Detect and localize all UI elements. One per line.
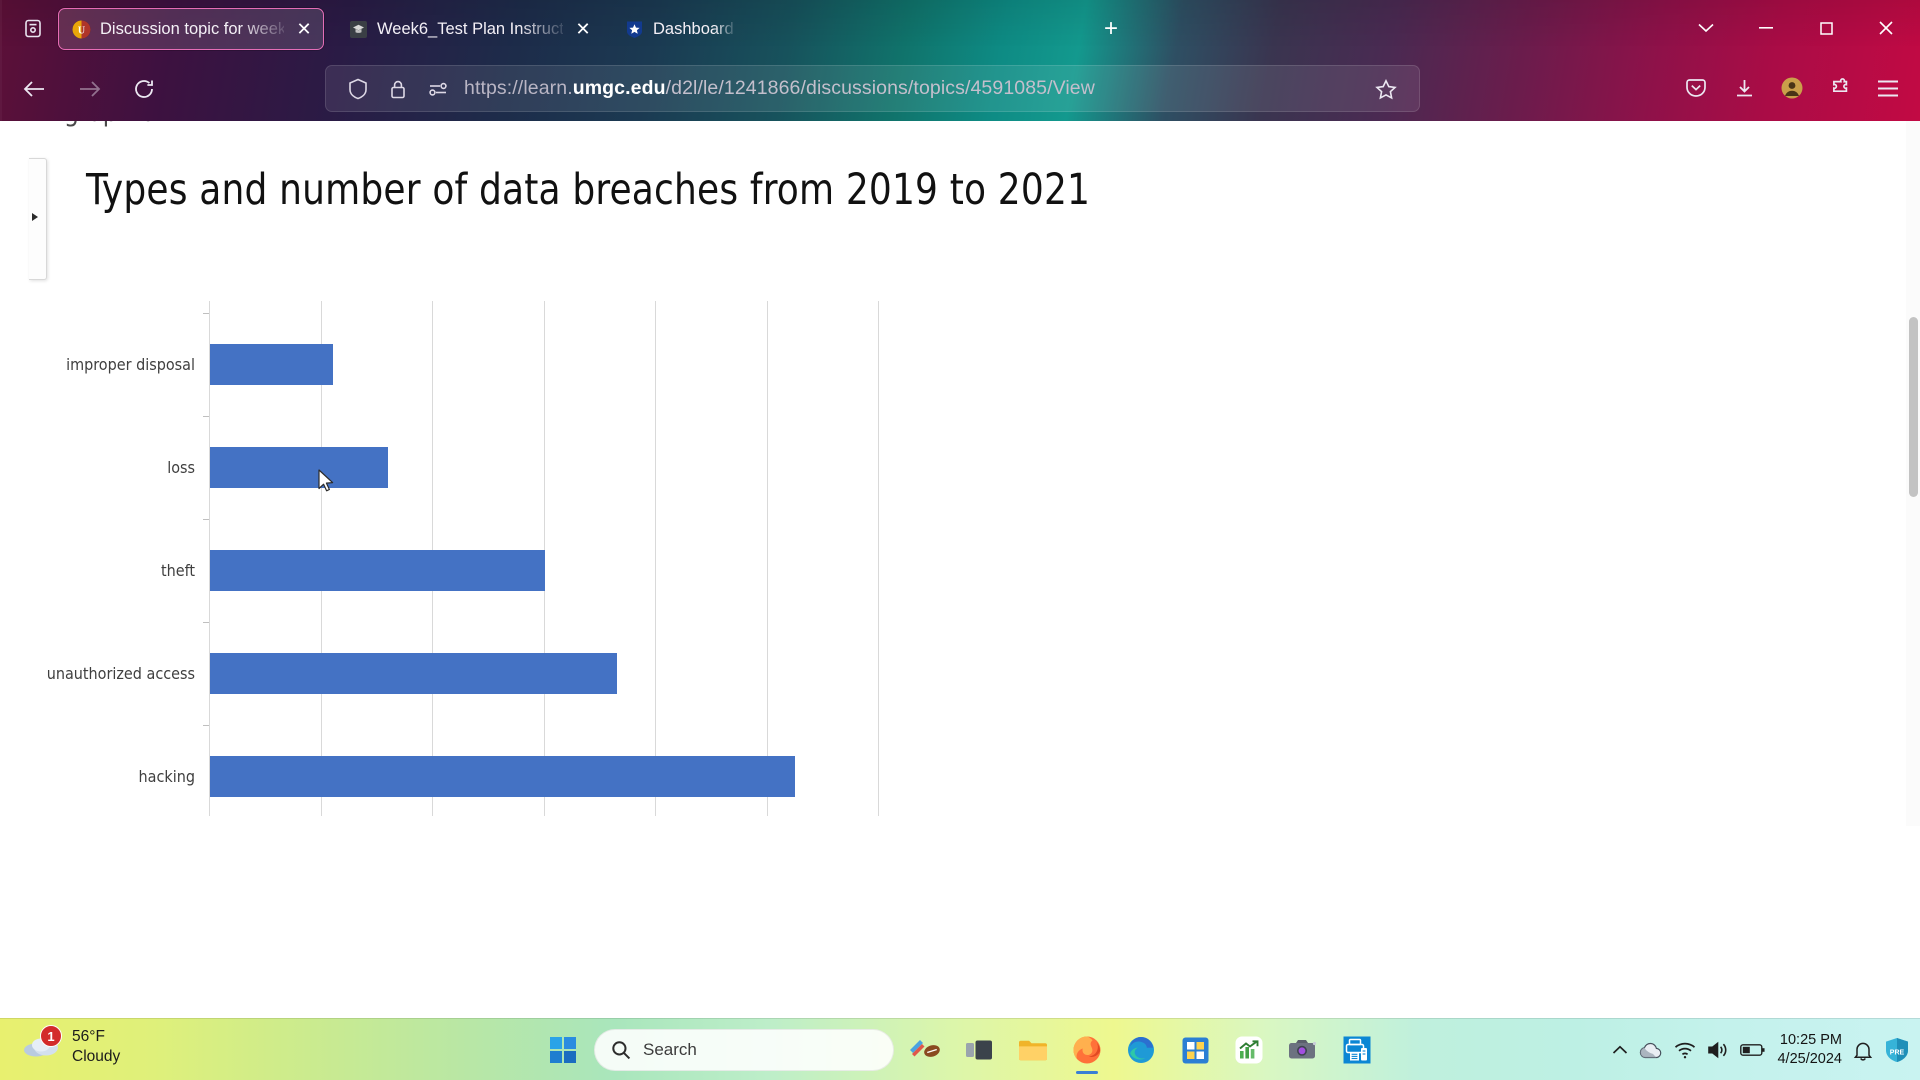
chart-xtick-label: 400 bbox=[641, 825, 668, 826]
page-scrollbar-track[interactable] bbox=[1906, 121, 1920, 826]
chevron-down-icon[interactable] bbox=[1676, 8, 1736, 48]
tab-1[interactable]: Week6_Test Plan Instructions: Th ✕ bbox=[336, 8, 602, 50]
chart-category-label: theft bbox=[161, 561, 195, 580]
taskbar-search-placeholder: Search bbox=[643, 1040, 697, 1060]
svg-text:PRE: PRE bbox=[1890, 1050, 1905, 1057]
padlock-icon[interactable] bbox=[378, 69, 418, 109]
weather-condition: Cloudy bbox=[72, 1047, 120, 1067]
taskbar-center-group: Search bbox=[540, 1025, 1380, 1075]
camera-icon bbox=[1288, 1038, 1318, 1062]
chart-category-label: loss bbox=[167, 458, 195, 477]
taskbar-item-file-explorer[interactable] bbox=[1010, 1025, 1056, 1075]
forward-arrow-icon[interactable] bbox=[70, 69, 110, 109]
bell-icon[interactable] bbox=[1853, 1040, 1873, 1061]
back-arrow-icon[interactable] bbox=[14, 69, 54, 109]
reload-icon[interactable] bbox=[124, 69, 164, 109]
chart-gridline bbox=[767, 301, 768, 816]
taskbar-item-firefox[interactable] bbox=[1064, 1025, 1110, 1075]
chart-plot-area: 0100200300400500600improper disposalloss… bbox=[209, 301, 878, 816]
pocket-icon[interactable] bbox=[1674, 67, 1718, 109]
chart-bar bbox=[210, 447, 388, 488]
umgc-favicon: U bbox=[71, 19, 91, 39]
taskbar-item-edge[interactable] bbox=[1118, 1025, 1164, 1075]
clock-date: 4/25/2024 bbox=[1777, 1050, 1842, 1069]
taskbar: 1 56°F Cloudy Search bbox=[0, 1018, 1920, 1080]
task-view-icon bbox=[965, 1038, 993, 1062]
taskbar-item-task-view[interactable] bbox=[956, 1025, 1002, 1075]
battery-icon[interactable] bbox=[1740, 1043, 1766, 1057]
tab-close-1[interactable]: ✕ bbox=[572, 18, 594, 40]
tab-title-2: Dashboard bbox=[653, 20, 734, 39]
taskbar-clock[interactable]: 10:25 PM 4/25/2024 bbox=[1777, 1031, 1842, 1069]
tab-strip: U Discussion topic for week 7: Dat ✕ Wee… bbox=[0, 0, 1920, 55]
microsoft-store-icon bbox=[1182, 1037, 1209, 1064]
toolbar-icons bbox=[1674, 67, 1910, 109]
star-outline-icon[interactable] bbox=[1367, 70, 1405, 108]
browser-chrome: U Discussion topic for week 7: Dat ✕ Wee… bbox=[0, 0, 1920, 121]
chart-y-tick bbox=[203, 519, 209, 520]
taskbar-search-box[interactable]: Search bbox=[594, 1029, 894, 1071]
chart-xtick-label: 500 bbox=[753, 825, 780, 826]
tray-overflow-chevron-icon[interactable] bbox=[1612, 1045, 1628, 1055]
chart-gridline bbox=[655, 301, 656, 816]
taskbar-item-widgets[interactable] bbox=[902, 1025, 948, 1075]
chart-xtick-label: 100 bbox=[307, 825, 334, 826]
chart-gridline bbox=[878, 301, 879, 816]
downloads-icon[interactable] bbox=[1722, 67, 1766, 109]
new-tab-button[interactable]: + bbox=[1095, 14, 1127, 44]
tab-close-0[interactable]: ✕ bbox=[293, 18, 315, 40]
chart-category-label: unauthorized access bbox=[47, 664, 195, 683]
chart-xtick-label: 600 bbox=[864, 825, 891, 826]
mouse-cursor bbox=[318, 469, 335, 493]
graduate-favicon bbox=[348, 19, 368, 39]
extensions-icon[interactable] bbox=[1818, 67, 1862, 109]
close-window-button[interactable] bbox=[1856, 8, 1916, 48]
bar-chart: 0100200300400500600improper disposalloss… bbox=[0, 121, 1000, 826]
firefox-icon bbox=[1072, 1035, 1102, 1065]
search-icon bbox=[611, 1040, 631, 1060]
taskbar-item-excel[interactable] bbox=[1226, 1025, 1272, 1075]
cloud-tray-icon[interactable] bbox=[1639, 1042, 1663, 1059]
minimize-button[interactable] bbox=[1736, 8, 1796, 48]
url-domain: umgc.edu bbox=[573, 77, 666, 99]
account-icon[interactable] bbox=[1770, 67, 1814, 109]
svg-text:U: U bbox=[77, 25, 84, 36]
tab-title-1: Week6_Test Plan Instructions: Th bbox=[377, 20, 563, 39]
football-widget-icon bbox=[908, 1036, 942, 1064]
folder-icon bbox=[1018, 1038, 1048, 1063]
chart-xtick-label: 200 bbox=[418, 825, 445, 826]
chart-y-tick bbox=[203, 725, 209, 726]
tab-0[interactable]: U Discussion topic for week 7: Dat ✕ bbox=[58, 8, 324, 50]
printer-app-icon bbox=[1343, 1036, 1371, 1064]
permissions-icon[interactable] bbox=[418, 69, 458, 109]
security-shield-icon[interactable]: PRE bbox=[1884, 1037, 1910, 1063]
chart-bar bbox=[210, 653, 617, 694]
taskbar-item-store[interactable] bbox=[1172, 1025, 1218, 1075]
wifi-icon[interactable] bbox=[1674, 1042, 1696, 1059]
url-text[interactable]: https://learn.umgc.edu/d2l/le/1241866/di… bbox=[464, 77, 1095, 100]
taskbar-item-printer[interactable] bbox=[1334, 1025, 1380, 1075]
chart-xtick-label: 0 bbox=[204, 825, 213, 826]
windows-start-button[interactable] bbox=[540, 1025, 586, 1075]
system-tray: 10:25 PM 4/25/2024 PRE bbox=[1612, 1019, 1910, 1080]
url-bar[interactable]: https://learn.umgc.edu/d2l/le/1241866/di… bbox=[325, 65, 1420, 112]
navigation-bar: https://learn.umgc.edu/d2l/le/1241866/di… bbox=[0, 55, 1920, 121]
chart-y-tick bbox=[203, 313, 209, 314]
chart-bar bbox=[210, 756, 795, 797]
chart-app-icon bbox=[1235, 1036, 1263, 1064]
edge-icon bbox=[1127, 1036, 1155, 1064]
tab-2[interactable]: Dashboard bbox=[612, 8, 878, 50]
url-path: /d2l/le/1241866/discussions/topics/45910… bbox=[666, 77, 1095, 99]
chart-y-tick bbox=[203, 622, 209, 623]
page-content: graph b Types and number of data breache… bbox=[0, 121, 1920, 826]
maximize-button[interactable] bbox=[1796, 8, 1856, 48]
chart-category-label: hacking bbox=[139, 767, 195, 786]
volume-icon[interactable] bbox=[1707, 1041, 1729, 1059]
tab-list-icon[interactable] bbox=[14, 10, 52, 46]
chart-bar bbox=[210, 344, 333, 385]
taskbar-item-camera[interactable] bbox=[1280, 1025, 1326, 1075]
clock-time: 10:25 PM bbox=[1777, 1031, 1842, 1050]
page-scrollbar-thumb[interactable] bbox=[1909, 317, 1918, 497]
chart-bar bbox=[210, 550, 545, 591]
tab-title-0: Discussion topic for week 7: Dat bbox=[100, 20, 284, 39]
star-badge-favicon bbox=[624, 19, 644, 39]
weather-temperature: 56°F bbox=[72, 1027, 120, 1047]
shield-icon[interactable] bbox=[338, 69, 378, 109]
chart-xtick-label: 300 bbox=[530, 825, 557, 826]
weather-text: 56°F Cloudy bbox=[72, 1027, 120, 1067]
window-controls bbox=[1676, 8, 1916, 48]
url-prefix: https://learn. bbox=[464, 77, 573, 99]
chart-y-tick bbox=[203, 416, 209, 417]
chart-category-label: improper disposal bbox=[66, 355, 195, 374]
taskbar-weather-widget[interactable]: 1 56°F Cloudy bbox=[22, 1027, 120, 1067]
menu-icon[interactable] bbox=[1866, 67, 1910, 109]
